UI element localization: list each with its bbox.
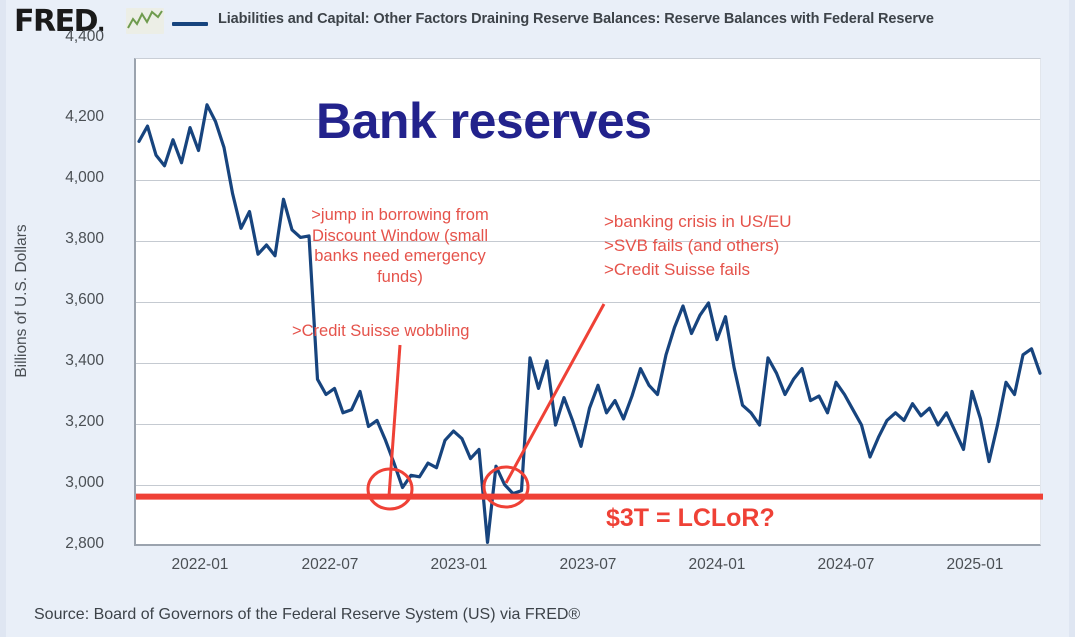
x-tick-label-2023-07: 2023-07: [533, 556, 643, 574]
y-tick-label-3400: 3,400: [18, 352, 104, 370]
source-note: Source: Board of Governors of the Federa…: [34, 606, 580, 624]
y-tick-label-4200: 4,200: [18, 108, 104, 126]
annotation-credit-suisse-wobbling: >Credit Suisse wobbling: [292, 321, 522, 342]
left-edge-gutter: [0, 0, 6, 637]
annotation-banking-crisis-line1: >banking crisis in US/EU: [604, 210, 904, 234]
y-tick-label-3600: 3,600: [18, 291, 104, 309]
x-tick-label-2024-01: 2024-01: [662, 556, 772, 574]
x-tick-label-2022-07: 2022-07: [275, 556, 385, 574]
sparkline-icon: [126, 8, 164, 34]
annotation-banking-crisis-line3: >Credit Suisse fails: [604, 258, 904, 282]
y-tick-label-3000: 3,000: [18, 474, 104, 492]
series-polyline: [139, 105, 1040, 543]
annotation-discount-window: >jump in borrowing from Discount Window …: [292, 205, 508, 287]
y-tick-label-4400: 4,400: [18, 28, 104, 46]
y-tick-label-3800: 3,800: [18, 230, 104, 248]
x-tick-label-2024-07: 2024-07: [791, 556, 901, 574]
annotation-banking-crisis-line2: >SVB fails (and others): [604, 234, 904, 258]
legend-series-label[interactable]: Liabilities and Capital: Other Factors D…: [218, 11, 934, 27]
x-tick-label-2025-01: 2025-01: [920, 556, 1030, 574]
chart-title-overlay: Bank reserves: [316, 92, 651, 150]
right-edge-gutter: [1069, 0, 1075, 637]
y-tick-label-4000: 4,000: [18, 169, 104, 187]
x-tick-label-2023-01: 2023-01: [404, 556, 514, 574]
chart-page: FRED. Liabilities and Capital: Other Fac…: [0, 0, 1075, 637]
annotation-banking-crisis: >banking crisis in US/EU >SVB fails (and…: [604, 210, 904, 282]
y-tick-label-2800: 2,800: [18, 535, 104, 553]
legend-color-swatch: [172, 22, 208, 26]
annotation-lclor-label: $3T = LCLoR?: [606, 504, 775, 533]
x-tick-label-2022-01: 2022-01: [145, 556, 255, 574]
y-tick-label-3200: 3,200: [18, 413, 104, 431]
chart-header: FRED. Liabilities and Capital: Other Fac…: [0, 0, 1075, 40]
